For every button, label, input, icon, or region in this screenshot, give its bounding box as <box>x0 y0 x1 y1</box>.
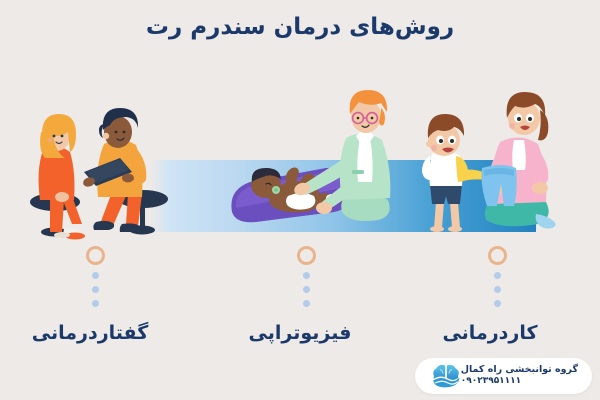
connector-dot-icon <box>494 300 501 307</box>
label-physiotherapy: فیزیوتراپی <box>240 322 360 344</box>
figure-man-clipboard <box>82 108 146 232</box>
connector-dot-icon <box>494 272 501 279</box>
label-speech-therapy: گفتاردرمانی <box>20 322 160 344</box>
connector-ring-icon <box>297 246 316 265</box>
page-title: روش‌های درمان سندرم رت <box>0 14 600 40</box>
connector-ring-icon <box>488 246 507 265</box>
connector-ring-icon <box>86 246 105 265</box>
connector-dot-icon <box>494 286 501 293</box>
connector-dot-icon <box>303 286 310 293</box>
speech-therapy-scene <box>30 108 168 240</box>
connector-dot-icon <box>92 300 99 307</box>
infographic-canvas: روش‌های درمان سندرم رت <box>0 0 600 400</box>
label-occupational-therapy: کاردرمانی <box>430 322 550 344</box>
brand-phone: ۰۹۰۲۳۹۵۱۱۱۱ <box>461 376 521 387</box>
connector-dot-icon <box>303 272 310 279</box>
illustration-stage <box>0 72 600 242</box>
brand-name: گروه توانبخشی راه کمال <box>461 364 578 376</box>
brain-wave-logo-icon <box>431 361 461 391</box>
brand-logo[interactable]: گروه توانبخشی راه کمال ۰۹۰۲۳۹۵۱۱۱۱ <box>415 358 592 394</box>
connector-occupational-therapy <box>487 246 507 307</box>
connector-dot-icon <box>303 300 310 307</box>
figure-woman-hijab <box>39 114 85 240</box>
connector-dot-icon <box>92 272 99 279</box>
physiotherapy-scene <box>231 90 390 222</box>
connector-physiotherapy <box>296 246 316 307</box>
connector-dot-icon <box>92 286 99 293</box>
brand-logo-text: گروه توانبخشی راه کمال ۰۹۰۲۳۹۵۱۱۱۱ <box>461 364 578 387</box>
connector-speech-therapy <box>85 246 105 307</box>
